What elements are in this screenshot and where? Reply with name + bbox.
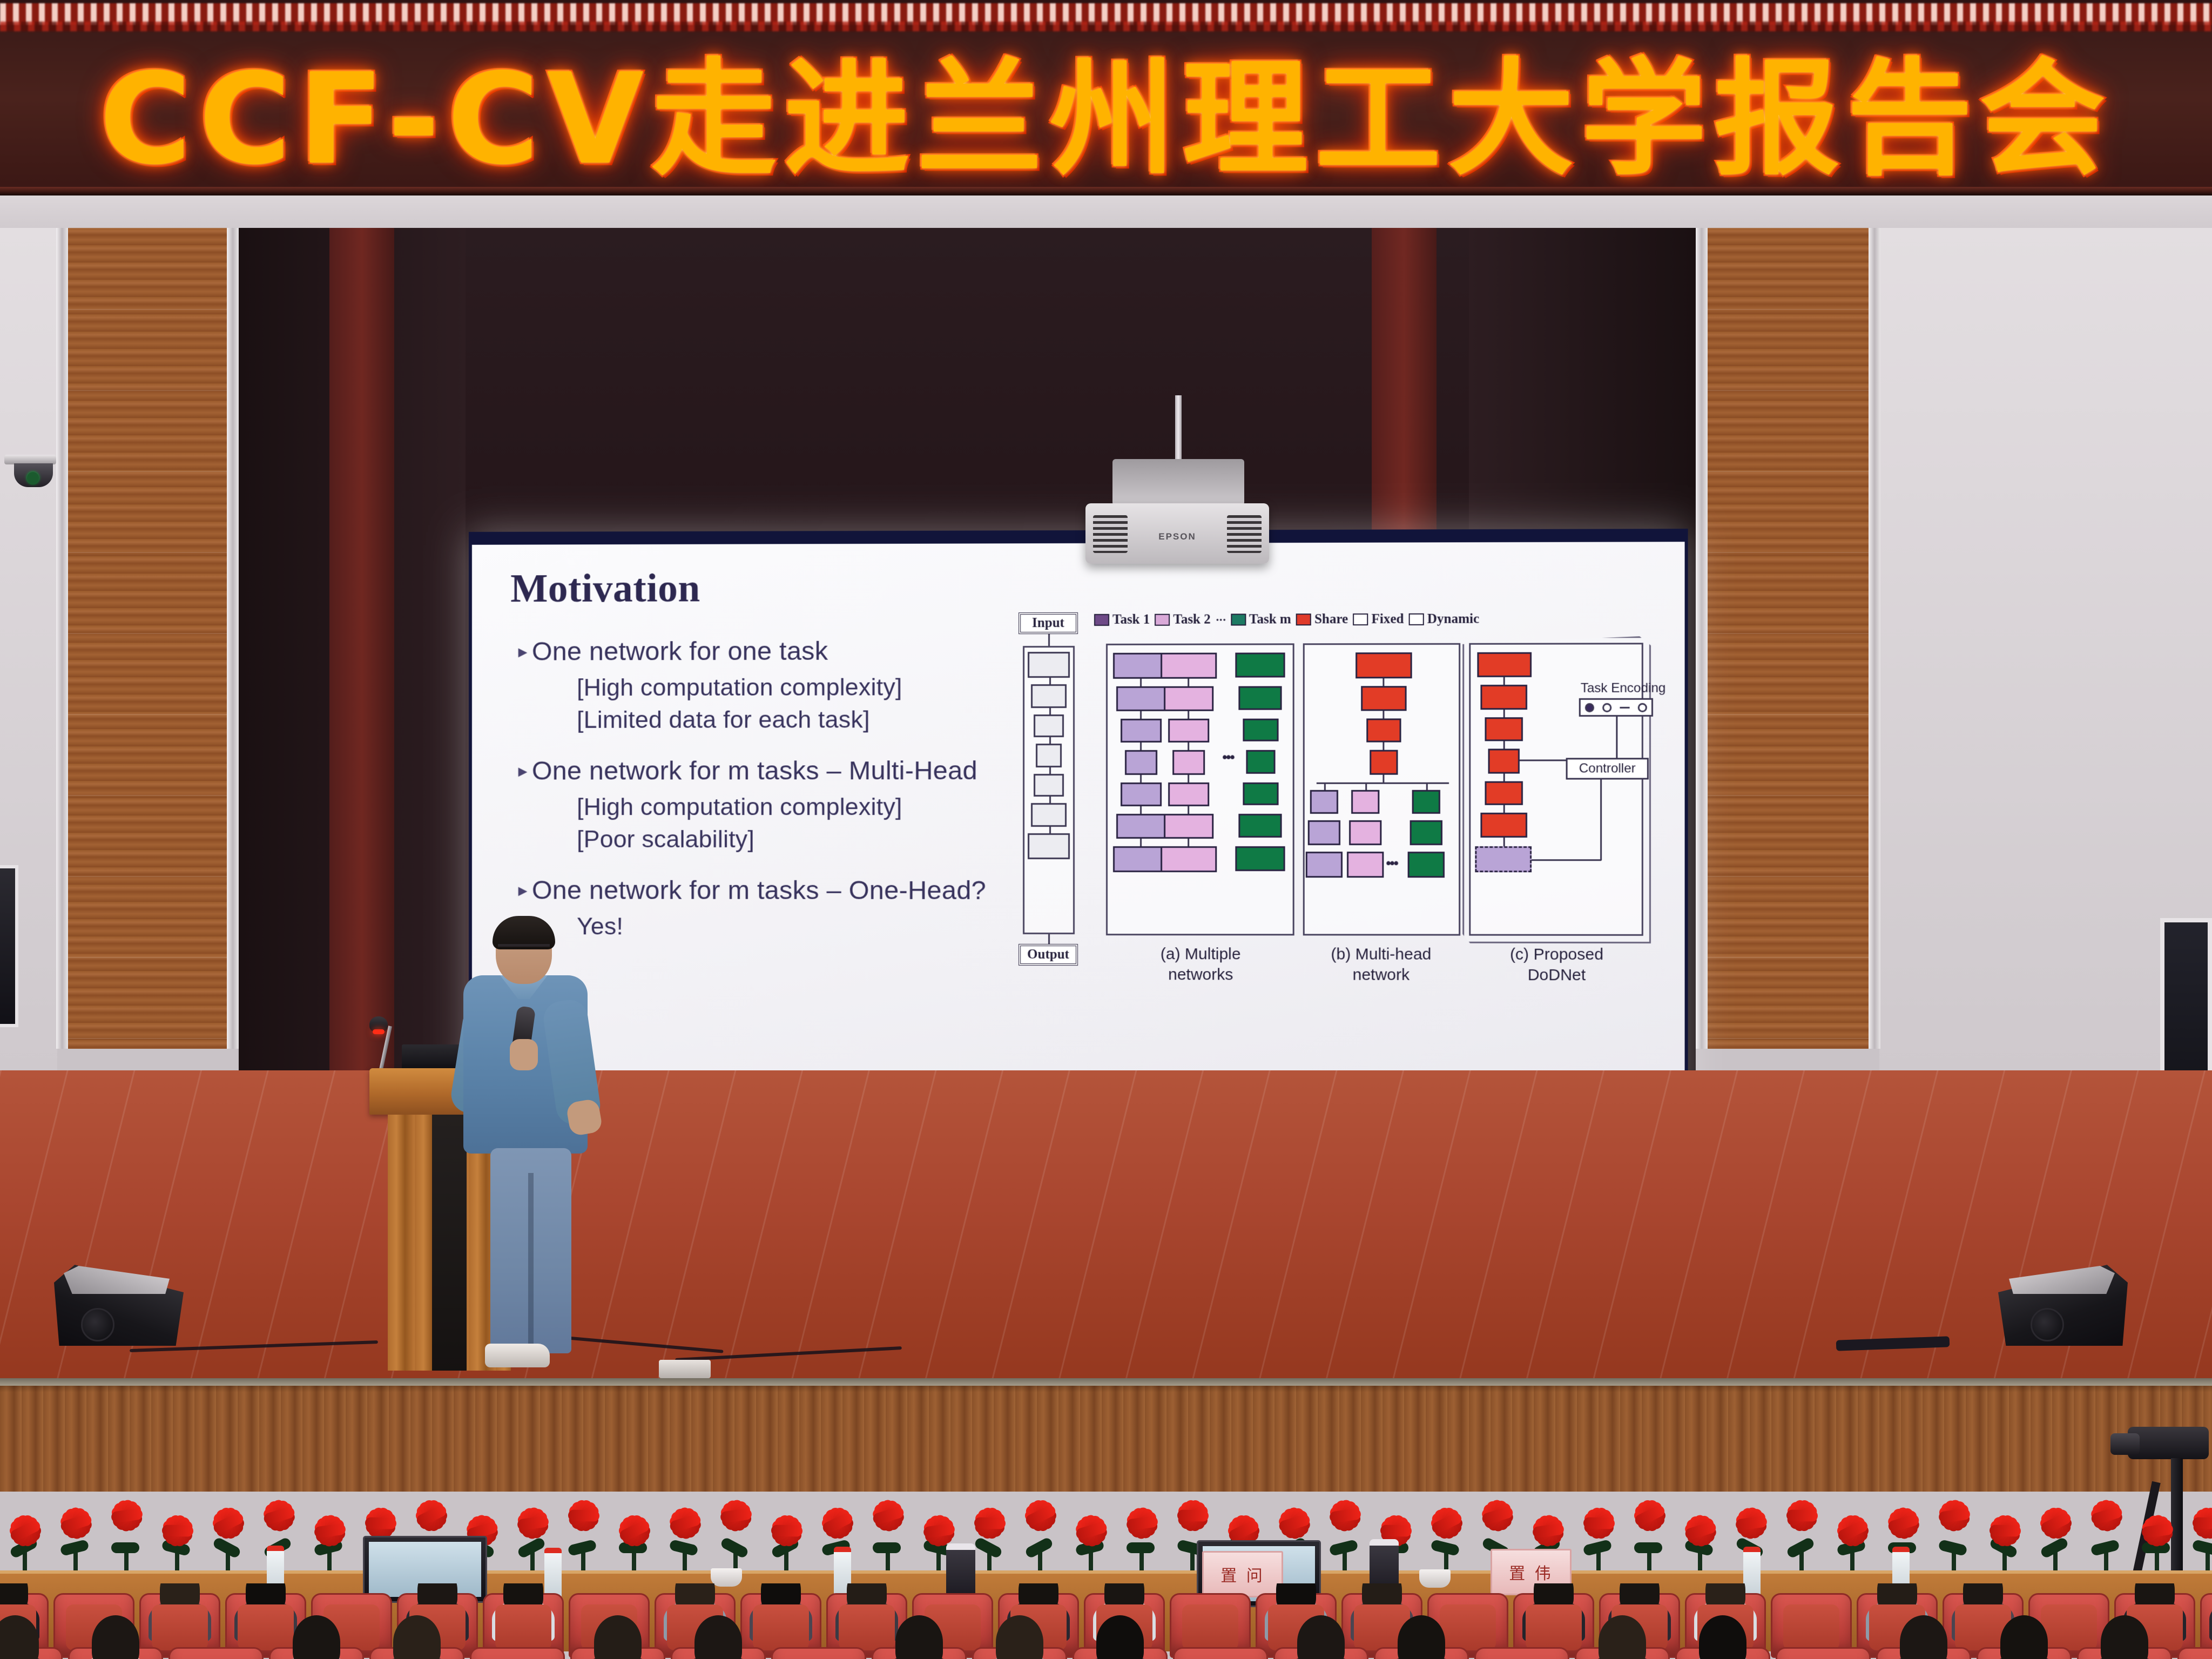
- bullet-block-1: ▸ One network for one task [High computa…: [514, 634, 1008, 736]
- slide-bullet-list: ▸ One network for one task [High computa…: [514, 634, 1008, 961]
- stage-monitor-cone-right-icon: [2031, 1308, 2064, 1341]
- diagram-panel-a: •••: [1106, 643, 1294, 935]
- bullet-triangle-icon: ▸: [514, 754, 532, 788]
- caption-line: networks: [1101, 965, 1301, 985]
- encoding-to-controller-line: [1616, 717, 1617, 758]
- block-connector: [1188, 711, 1189, 719]
- shared-block: [1480, 685, 1527, 710]
- audience-member-shoulders: [2209, 1600, 2212, 1642]
- block-connector: [1188, 839, 1189, 846]
- audience-member-head: [160, 1583, 200, 1613]
- block-connector: [1503, 774, 1505, 781]
- projection-screen-frame: Motivation ▸ One network for one task [H…: [469, 529, 1688, 1148]
- encoding-dot-filled-icon: [1585, 703, 1594, 712]
- legend-label: Fixed: [1371, 612, 1404, 627]
- audience-member-shoulders: [835, 1600, 898, 1642]
- projector-mount-bracket: [1112, 459, 1244, 505]
- taskm-block: [1235, 652, 1285, 677]
- bullet-block-2: ▸ One network for m tasks – Multi-Head […: [514, 754, 1008, 855]
- led-banner: CCF-CV走进兰州理工大学报告会: [0, 0, 2212, 195]
- network-block: [1031, 803, 1067, 827]
- slide-title: Motivation: [510, 566, 700, 612]
- block-connector: [1049, 737, 1051, 744]
- audience-member-head: [1362, 1583, 1402, 1613]
- shared-block: [1366, 718, 1401, 742]
- auditorium-seat[interactable]: [2177, 1647, 2212, 1659]
- flower-petal: [1786, 1509, 1818, 1521]
- bullet-main-text: One network for m tasks – Multi-Head: [532, 754, 977, 787]
- bullet-triangle-icon: ▸: [514, 635, 532, 669]
- presenter-person: [454, 919, 599, 1367]
- diagram-input-connector: [1048, 634, 1050, 647]
- taskm-block: [1235, 846, 1285, 871]
- audience-member-head: [675, 1583, 715, 1613]
- shared-block: [1488, 748, 1520, 773]
- audience-member-shoulders: [149, 1600, 211, 1642]
- task-encoding-label: Task Encoding: [1581, 681, 1666, 696]
- audience-member-head: [1276, 1583, 1316, 1613]
- left-wall-trim-inner: [227, 228, 239, 1049]
- microphone-status-led: [373, 1029, 385, 1034]
- controller-output-line: [1600, 769, 1602, 860]
- block-connector: [1382, 678, 1384, 686]
- task1-block: [1116, 814, 1166, 839]
- task1-block: [1125, 750, 1157, 775]
- flower-leaf: [111, 1542, 139, 1553]
- legend-label: Task 1: [1112, 612, 1150, 628]
- left-wood-panel: [67, 228, 227, 1049]
- stage-front-facade: [0, 1378, 2212, 1492]
- task2-block: [1164, 686, 1213, 711]
- audience-member-head: [1705, 1583, 1745, 1613]
- block-connector: [1188, 743, 1189, 750]
- legend-label: Dynamic: [1427, 612, 1479, 627]
- encoding-dash-icon: [1620, 706, 1630, 708]
- auditorium-seat[interactable]: [68, 1647, 163, 1659]
- auditorium-seat[interactable]: [369, 1647, 464, 1659]
- caption-line: DoDNet: [1467, 965, 1647, 986]
- block-connector: [1049, 827, 1051, 833]
- legend-swatch-icon: [1296, 613, 1311, 625]
- block-connector: [1188, 775, 1189, 783]
- bullet-sub-text: [Poor scalability]: [577, 823, 1008, 855]
- diagram-output-connector: [1048, 934, 1050, 945]
- slide-diagram: Task 1 Task 2 ··· Task m: [1014, 611, 1660, 1062]
- block-connector: [1503, 677, 1505, 685]
- auditorium-seat[interactable]: [671, 1647, 766, 1659]
- legend-ellipsis: ···: [1216, 612, 1226, 626]
- shared-block: [1480, 813, 1527, 838]
- task2-head-block: [1349, 820, 1381, 845]
- audience-member-head: [2135, 1583, 2175, 1613]
- controller-to-head-line: [1532, 859, 1601, 861]
- bullet-main-text: One network for one task: [532, 635, 828, 669]
- legend-swatch-icon: [1155, 614, 1170, 626]
- block-connector: [1382, 775, 1384, 783]
- taskm-block: [1238, 686, 1282, 710]
- block-connector: [1049, 708, 1051, 714]
- bullet-item: ▸ One network for one task: [514, 634, 1008, 668]
- auditorium-seat[interactable]: [1073, 1647, 1168, 1659]
- flower-petal: [2193, 1517, 2212, 1529]
- block-connector: [1140, 775, 1142, 783]
- network-block: [1028, 652, 1070, 678]
- auditorium-seat[interactable]: [1273, 1647, 1368, 1659]
- legend-swatch-icon: [1231, 613, 1246, 625]
- legend-swatch-icon: [1094, 614, 1109, 626]
- network-block: [1031, 684, 1067, 708]
- block-connector: [1382, 743, 1384, 750]
- taskm-block: [1243, 719, 1278, 741]
- task2-head-block: [1347, 852, 1384, 878]
- network-block: [1034, 714, 1064, 737]
- auditorium-seat[interactable]: [1575, 1647, 1670, 1659]
- diagram-generic-network-stack: [1023, 646, 1075, 934]
- shared-block: [1477, 652, 1532, 677]
- network-block: [1036, 744, 1062, 767]
- legend-entry-task1: Task 1: [1094, 612, 1150, 628]
- audience-member-head: [761, 1583, 801, 1613]
- audience-member-head: [0, 1583, 28, 1613]
- diagram-output-box: Output: [1019, 944, 1078, 966]
- block-connector: [1049, 678, 1051, 684]
- task2-head-block: [1351, 790, 1379, 814]
- audience-member-head: [1019, 1583, 1058, 1613]
- audience-member-head: [246, 1583, 286, 1613]
- caption-line: network: [1297, 965, 1466, 985]
- block-connector: [1503, 838, 1505, 846]
- diagram-input-box: Input: [1019, 612, 1078, 634]
- auditorium-seat[interactable]: [1675, 1647, 1770, 1659]
- poinsettia-bloom: [2176, 1495, 2212, 1551]
- stage-floor-tape-box: [659, 1360, 711, 1378]
- block-connector: [1140, 743, 1142, 750]
- right-wall-trim-outer: [1869, 228, 1880, 1049]
- right-wood-panel: [1707, 228, 1869, 1049]
- auditorium-seat[interactable]: [771, 1647, 866, 1659]
- flower-petal: [1583, 1517, 1615, 1529]
- diagram-legend: Task 1 Task 2 ··· Task m: [1094, 612, 1479, 628]
- shared-block: [1370, 750, 1398, 775]
- taskm-block: [1238, 814, 1282, 838]
- auditorium-seat[interactable]: [1876, 1647, 1971, 1659]
- auditorium-seat[interactable]: [570, 1647, 665, 1659]
- block-connector: [1140, 806, 1142, 814]
- bullet-sub-text: [High computation complexity]: [577, 791, 1008, 823]
- projector-ceiling-rod: [1175, 395, 1182, 459]
- block-connector: [1503, 741, 1505, 748]
- audience-member-head: [1963, 1583, 2003, 1613]
- task-encoding-vector: [1579, 698, 1653, 717]
- task1-block: [1116, 686, 1166, 711]
- shared-block: [1361, 686, 1406, 711]
- legend-label: Share: [1314, 612, 1348, 627]
- flower-petal: [1177, 1509, 1209, 1521]
- flower-leaf: [873, 1542, 901, 1553]
- shared-block: [1355, 652, 1412, 678]
- block-connector: [1140, 679, 1142, 686]
- left-stage-drape: [329, 228, 394, 1070]
- diagram-panel-b: •••: [1303, 643, 1460, 936]
- stage-floor: [0, 1070, 2212, 1378]
- flower-petal: [162, 1525, 193, 1536]
- encoding-dot-icon: [1602, 703, 1611, 712]
- block-connector: [1049, 797, 1051, 803]
- block-connector: [1382, 711, 1384, 718]
- dynamic-head-block: [1475, 846, 1532, 872]
- bullet-triangle-icon: ▸: [514, 874, 532, 907]
- audience-member-head: [1877, 1583, 1917, 1613]
- bullet-sub-text: Yes!: [577, 910, 1008, 942]
- block-connector: [1503, 710, 1505, 717]
- presenter-glasses-icon: [498, 944, 550, 953]
- auditorium-seat[interactable]: [168, 1647, 264, 1659]
- shared-block: [1485, 781, 1522, 805]
- taskm-head-block: [1412, 790, 1440, 814]
- audience-member-head: [1104, 1583, 1144, 1613]
- task1-head-block: [1308, 820, 1340, 845]
- bullet-sub-text: [High computation complexity]: [577, 671, 1008, 704]
- audience-seat-row: [0, 1647, 2212, 1659]
- block-connector: [1140, 839, 1142, 846]
- audience-seating: [0, 1583, 2212, 1659]
- projector-brand-label: EPSON: [1085, 531, 1269, 542]
- branch-bar: [1317, 783, 1449, 784]
- taskm-head-block: [1410, 820, 1442, 845]
- auditorium-seat[interactable]: [1374, 1647, 1469, 1659]
- legend-entry-share: Share: [1296, 612, 1348, 627]
- auditorium-seat[interactable]: [1474, 1647, 1569, 1659]
- task2-block: [1168, 783, 1209, 806]
- flower-petal: [771, 1525, 802, 1536]
- controller-input-line: [1520, 759, 1572, 761]
- controller-box: Controller: [1566, 758, 1649, 779]
- caption-line: (a) Multiple: [1101, 944, 1301, 965]
- conference-hall-photo: CCF-CV走进兰州理工大学报告会 Motivation: [0, 0, 2212, 1659]
- legend-swatch-icon: [1353, 613, 1368, 625]
- taskm-block: [1246, 750, 1275, 774]
- task1-head-block: [1310, 790, 1338, 814]
- flower-petal: [1380, 1525, 1412, 1536]
- audience-member-head: [1620, 1583, 1660, 1613]
- block-connector: [1188, 806, 1189, 814]
- video-camera-lens-icon: [2110, 1433, 2140, 1455]
- panel-b-ellipsis: •••: [1386, 855, 1397, 872]
- legend-entry-task2: Task 2: [1155, 612, 1210, 628]
- encoding-dot-icon: [1638, 703, 1647, 712]
- taskm-block: [1243, 783, 1278, 805]
- auditorium-seat[interactable]: [0, 1647, 63, 1659]
- projection-screen: Motivation ▸ One network for one task [H…: [472, 542, 1685, 1138]
- legend-entry-fixed: Fixed: [1353, 612, 1404, 627]
- ceiling-camera-lens-icon: [27, 472, 39, 484]
- legend-entry-dynamic: Dynamic: [1409, 612, 1480, 627]
- auditorium-hall: Motivation ▸ One network for one task [H…: [0, 195, 2212, 1659]
- bullet-main-text: One network for m tasks – One-Head?: [532, 874, 986, 907]
- bullet-sub-text: [Limited data for each task]: [577, 703, 1008, 736]
- legend-label: Task m: [1249, 612, 1291, 627]
- task2-block: [1161, 653, 1217, 679]
- flower-petal: [365, 1517, 396, 1529]
- audience-member-shoulders: [492, 1600, 554, 1642]
- panel-c-caption: (c) Proposed DoDNet: [1467, 945, 1647, 986]
- video-camera-body: [2128, 1427, 2209, 1459]
- block-connector: [1188, 679, 1189, 686]
- caption-line: (c) Proposed: [1467, 945, 1647, 965]
- stage-monitor-cone-left-icon: [81, 1308, 114, 1341]
- flower-petal: [1990, 1525, 2021, 1536]
- stage-edge-shadow: [0, 1378, 2212, 1392]
- task2-block: [1161, 846, 1217, 872]
- diagram-io-column: Input: [1014, 612, 1085, 990]
- audience-member-shoulders: [1522, 1600, 1584, 1642]
- panel-b-caption: (b) Multi-head network: [1297, 944, 1466, 986]
- auditorium-seat[interactable]: [1977, 1647, 2072, 1659]
- shared-block: [1485, 717, 1522, 741]
- right-wall-trim-inner: [1696, 228, 1708, 1049]
- taskm-head-block: [1408, 852, 1445, 878]
- block-connector: [1503, 805, 1505, 813]
- auditorium-seat[interactable]: [872, 1647, 967, 1659]
- left-wall-trim-outer: [56, 228, 68, 1049]
- auditorium-seat[interactable]: [470, 1647, 565, 1659]
- network-block: [1028, 833, 1070, 859]
- led-banner-bottom-edge: [0, 187, 2212, 195]
- audience-member-head: [847, 1583, 887, 1613]
- legend-swatch-icon: [1409, 613, 1424, 625]
- auditorium-seat[interactable]: [2077, 1647, 2172, 1659]
- auditorium-seat[interactable]: [269, 1647, 364, 1659]
- task1-block: [1121, 783, 1162, 806]
- task2-block: [1172, 750, 1205, 775]
- audience-member-head: [503, 1583, 543, 1613]
- block-connector: [1049, 767, 1051, 774]
- audience-member-shoulders: [750, 1600, 812, 1642]
- presenter-shoe: [485, 1344, 550, 1367]
- presenter-leg-gap: [528, 1173, 534, 1346]
- legend-entry-taskm: Task m: [1231, 612, 1291, 627]
- flower-leaf: [1634, 1542, 1662, 1553]
- caption-line: (b) Multi-head: [1297, 944, 1466, 965]
- task2-block: [1168, 719, 1209, 743]
- flower-petal: [568, 1509, 599, 1521]
- auditorium-seat[interactable]: [1776, 1647, 1871, 1659]
- ceiling-projector: EPSON: [1085, 503, 1269, 564]
- audience-member-head: [417, 1583, 457, 1613]
- task1-block: [1121, 719, 1162, 743]
- audience-member-head: [1534, 1583, 1574, 1613]
- auditorium-seat[interactable]: [972, 1647, 1067, 1659]
- panel-a-ellipsis: •••: [1222, 749, 1233, 766]
- bullet-item: ▸ One network for m tasks – Multi-Head: [514, 754, 1008, 787]
- legend-label: Task 2: [1173, 612, 1210, 628]
- auditorium-seat[interactable]: [1173, 1647, 1268, 1659]
- led-banner-text: CCF-CV走进兰州理工大学报告会: [0, 28, 2212, 188]
- audience-member-shoulders: [234, 1600, 296, 1642]
- flower-petal: [974, 1517, 1006, 1529]
- network-block: [1034, 774, 1064, 797]
- left-wall-display-panel: [0, 865, 18, 1027]
- panel-a-caption: (a) Multiple networks: [1101, 944, 1301, 985]
- bullet-item: ▸ One network for m tasks – One-Head?: [514, 874, 1008, 907]
- task2-block: [1164, 814, 1213, 839]
- presenter-mic-hand: [510, 1039, 538, 1070]
- block-connector: [1140, 711, 1142, 719]
- task1-head-block: [1306, 852, 1343, 878]
